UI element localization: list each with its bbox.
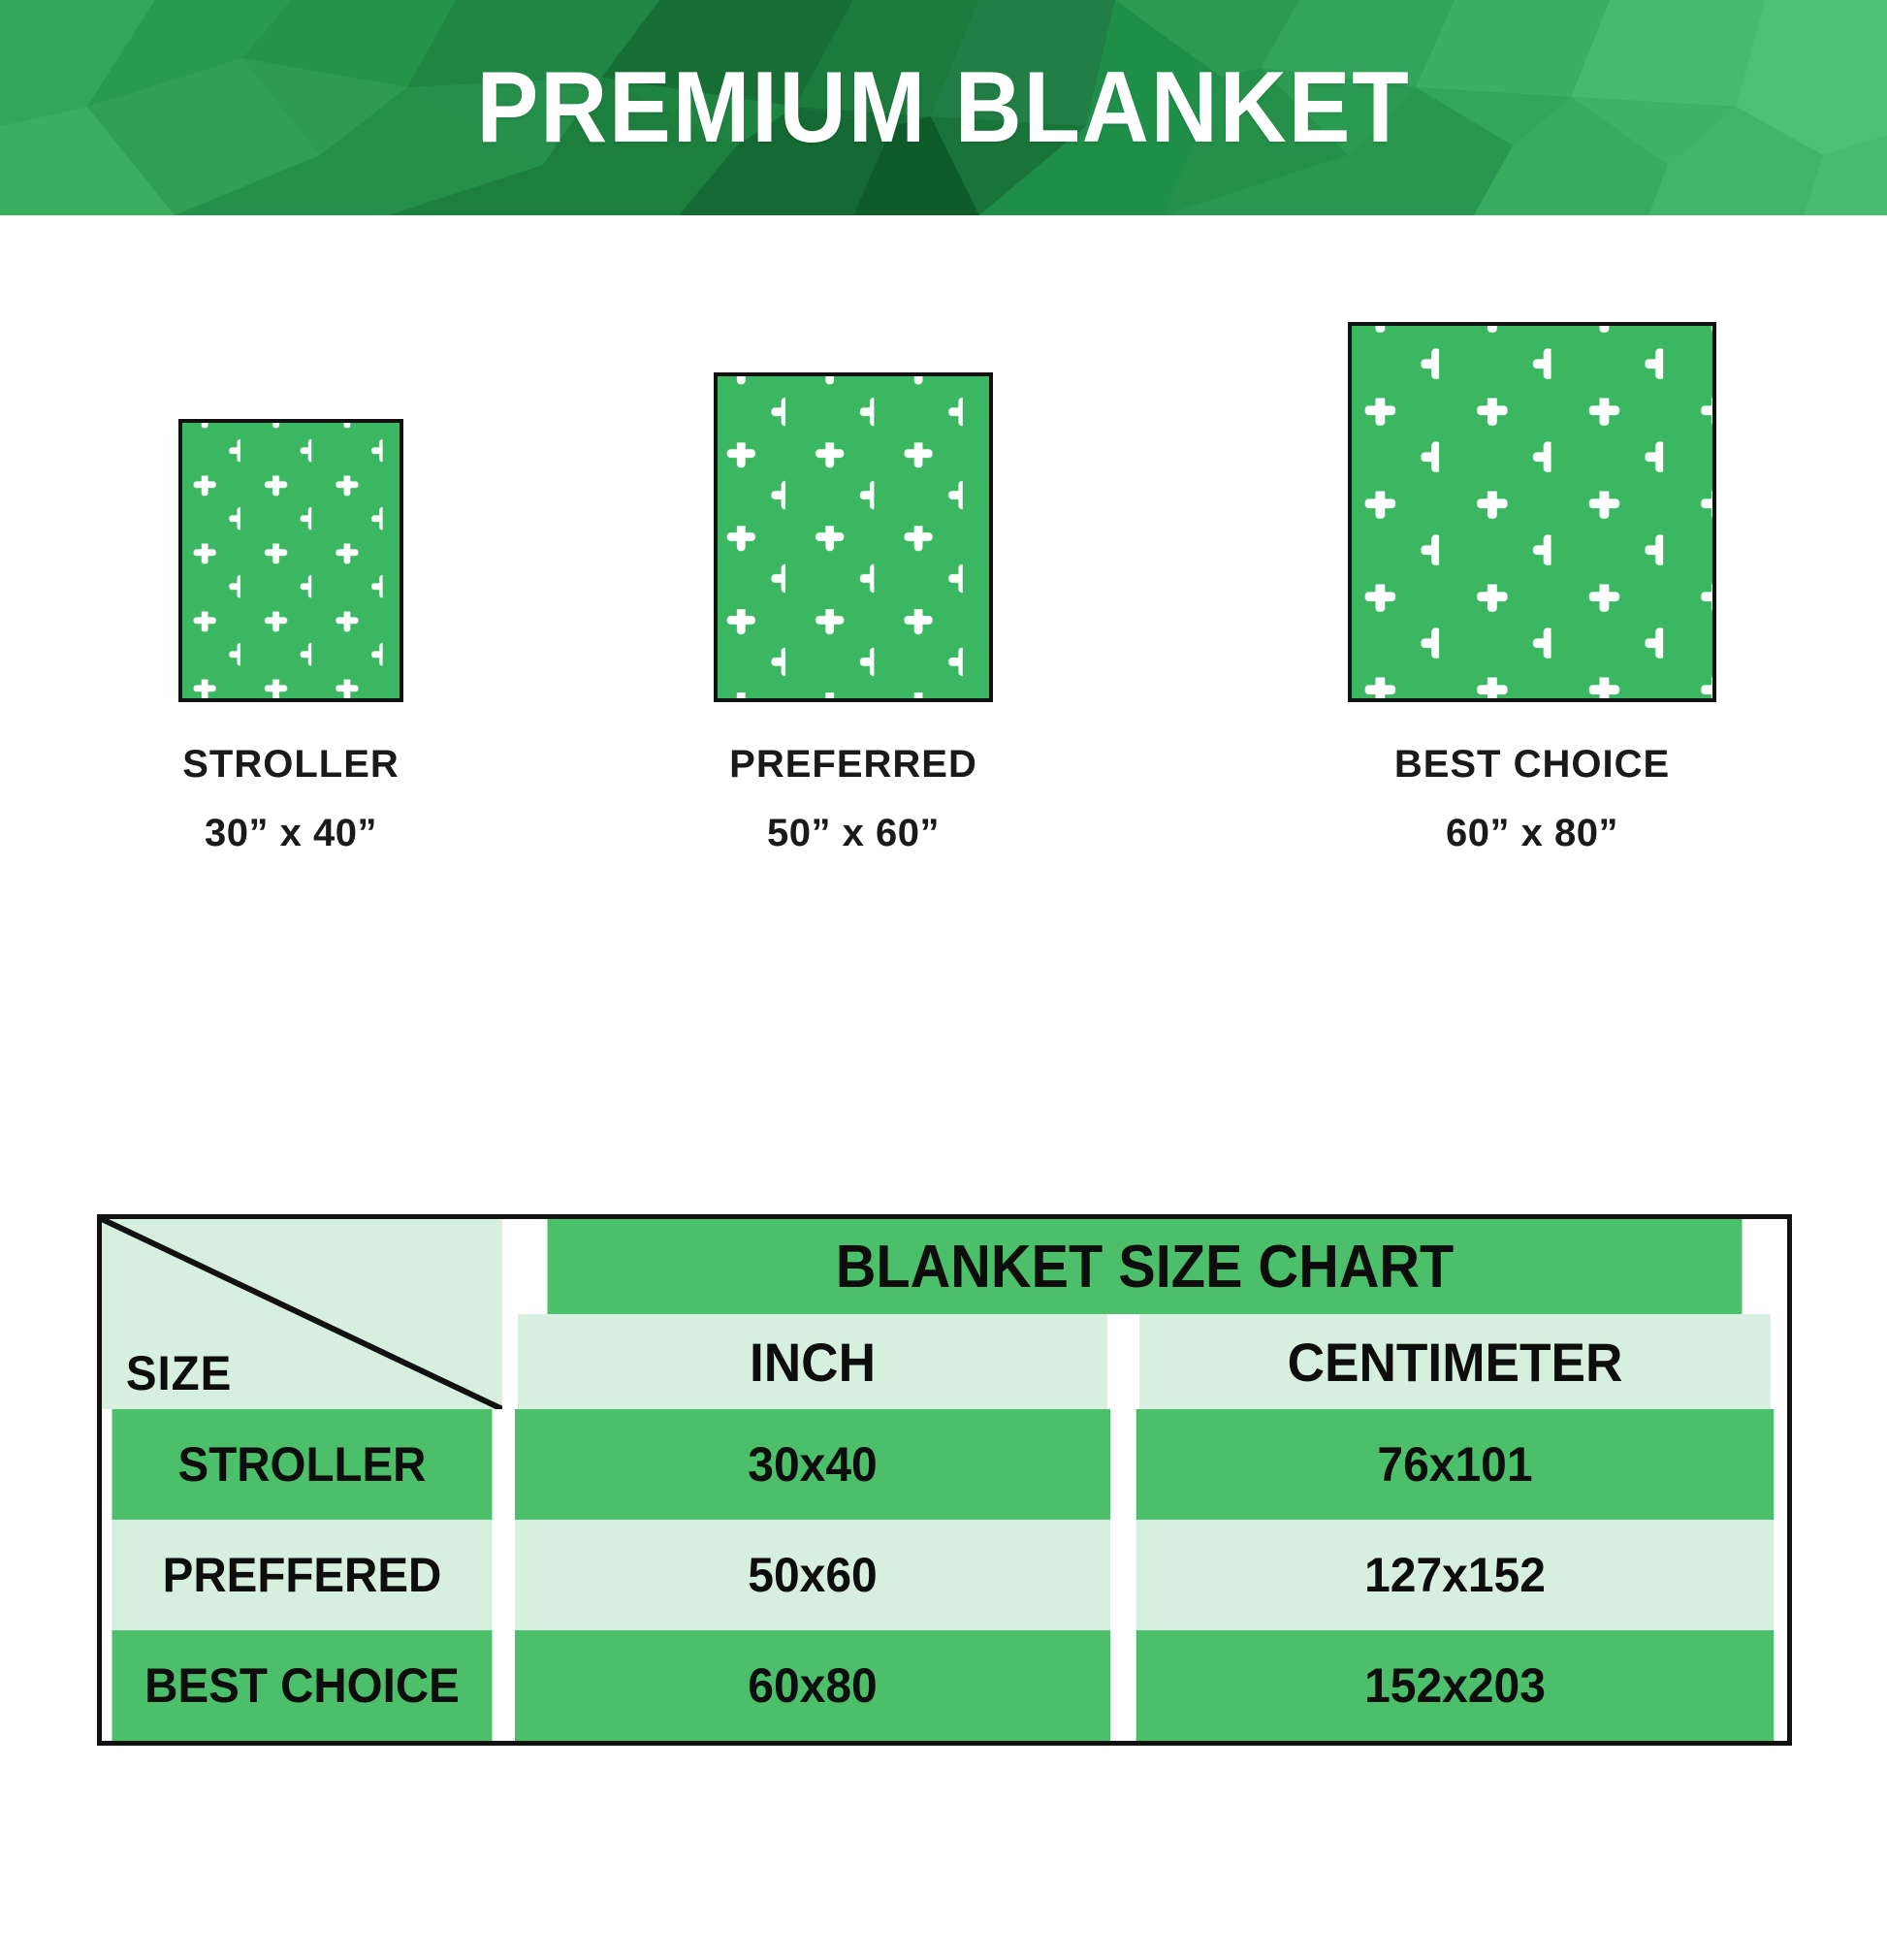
swatch-dimensions-label: 50” x 60” (601, 812, 1105, 855)
column-header-centimeter: CENTIMETER (1139, 1314, 1771, 1409)
blanket-swatch-preferred: PREFERRED 50” x 60” (601, 215, 1105, 855)
table-row-header-title: SIZE BLANKET SIZE CHART (102, 1219, 1787, 1314)
table-corner-cell: SIZE (102, 1219, 502, 1409)
blanket-fabric-swatch (714, 372, 993, 702)
table-row: PREFFERED 50x60 127x152 (102, 1520, 1787, 1630)
chart-title-cell: BLANKET SIZE CHART (547, 1219, 1742, 1314)
blanket-fabric-swatch (1348, 322, 1716, 702)
plus-cross-icon-pattern (182, 423, 400, 698)
swatch-name-label: BEST CHOICE (1241, 743, 1823, 787)
blanket-swatch-row: STROLLER 30” x 40” PREFERR (0, 215, 1887, 1185)
cell-centimeter-stroller: 76x101 (1136, 1409, 1775, 1520)
swatch-name-label: PREFERRED (601, 743, 1105, 787)
swatch-name-label: STROLLER (58, 743, 524, 787)
corner-size-label: SIZE (126, 1345, 232, 1401)
page-title: PREMIUM BLANKET (76, 0, 1811, 215)
swatch-dimensions-label: 30” x 40” (58, 812, 524, 855)
blanket-fabric-swatch (178, 419, 403, 702)
plus-cross-icon-pattern (1352, 326, 1712, 698)
page-header: PREMIUM BLANKET (0, 0, 1887, 215)
cell-centimeter-best-choice: 152x203 (1136, 1630, 1775, 1741)
row-header-preffered: PREFFERED (112, 1520, 492, 1630)
cell-inch-preffered: 50x60 (515, 1520, 1110, 1630)
cell-centimeter-preffered: 127x152 (1136, 1520, 1775, 1630)
table-row: STROLLER 30x40 76x101 (102, 1409, 1787, 1520)
swatch-dimensions-label: 60” x 80” (1241, 812, 1823, 855)
blanket-size-chart-table: SIZE BLANKET SIZE CHART INCH CENTIMETER … (97, 1214, 1792, 1746)
column-header-inch: INCH (518, 1314, 1107, 1409)
plus-cross-icon-pattern (718, 376, 989, 698)
cell-inch-stroller: 30x40 (515, 1409, 1110, 1520)
row-header-best-choice: BEST CHOICE (112, 1630, 492, 1741)
cell-inch-best-choice: 60x80 (515, 1630, 1110, 1741)
blanket-swatch-stroller: STROLLER 30” x 40” (58, 215, 524, 855)
table-row: BEST CHOICE 60x80 152x203 (102, 1630, 1787, 1741)
row-header-stroller: STROLLER (112, 1409, 492, 1520)
blanket-swatch-best-choice: BEST CHOICE 60” x 80” (1241, 215, 1823, 855)
